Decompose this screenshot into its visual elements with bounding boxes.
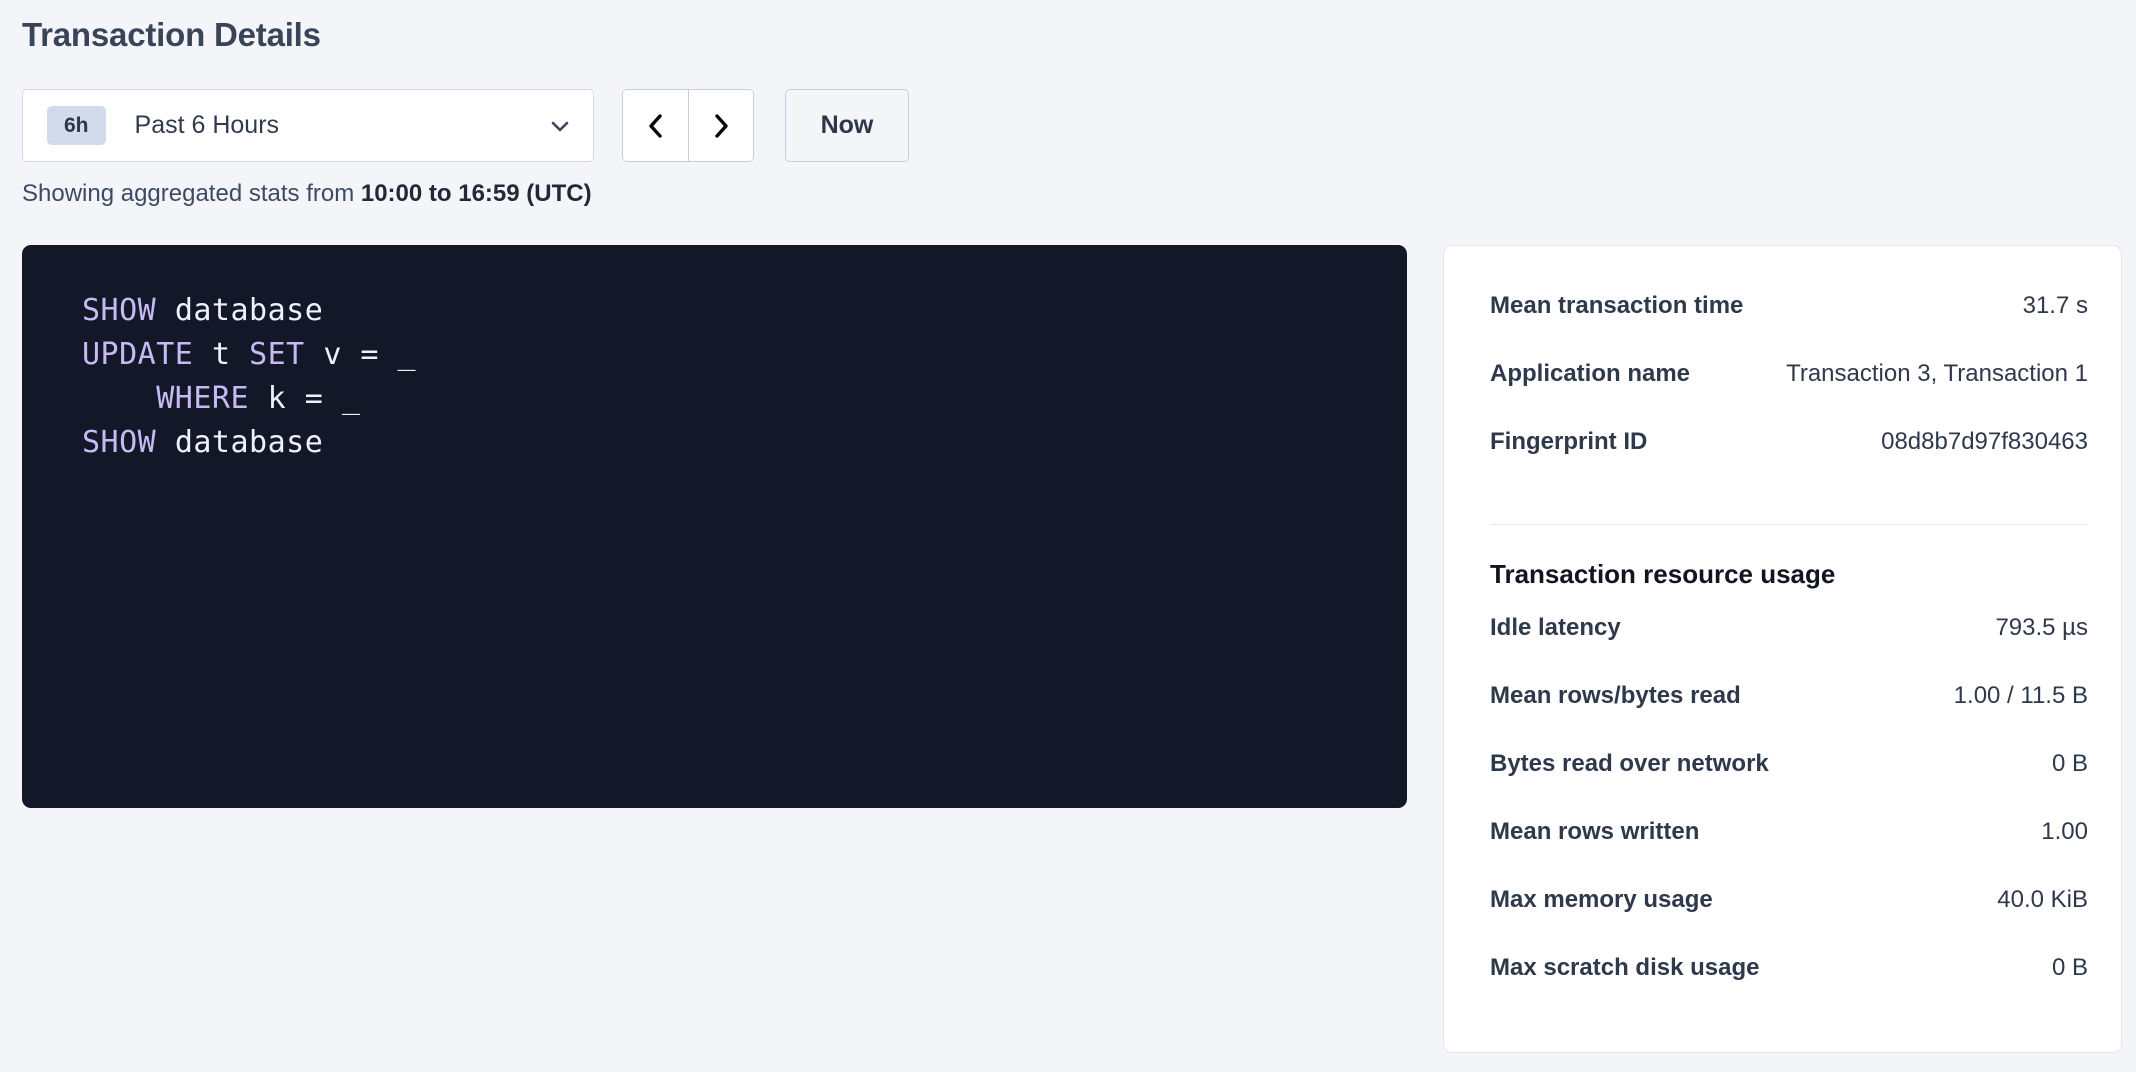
stat-label: Fingerprint ID: [1490, 428, 1647, 456]
next-arrow-icon: [708, 111, 734, 141]
sql-keyword: SHOW: [82, 293, 175, 328]
sql-identifier: database: [175, 425, 324, 460]
resource-stats-list: Idle latency793.5 µsMean rows/bytes read…: [1490, 614, 2088, 1022]
sql-identifier: k = _: [268, 381, 361, 416]
section-divider: [1490, 524, 2088, 525]
time-range-label: Past 6 Hours: [135, 111, 549, 140]
previous-period-button[interactable]: [623, 90, 688, 161]
stat-value: 1.00: [2041, 818, 2088, 846]
transaction-details-page: Transaction Details 6h Past 6 Hours: [0, 0, 2136, 1072]
stat-value: 31.7 s: [2023, 292, 2088, 320]
sql-code-panel: SHOW databaseUPDATE t SET v = _ WHERE k …: [22, 245, 1407, 808]
stat-row: Idle latency793.5 µs: [1490, 614, 2088, 682]
sql-identifier: t: [212, 337, 249, 372]
resource-usage-heading: Transaction resource usage: [1490, 559, 2088, 590]
stat-row: Mean rows/bytes read1.00 / 11.5 B: [1490, 682, 2088, 750]
sql-keyword: SHOW: [82, 425, 175, 460]
toolbar: 6h Past 6 Hours: [22, 89, 909, 162]
stat-value: 0 B: [2052, 954, 2088, 982]
sql-code-line: SHOW database: [82, 289, 1407, 333]
stat-label: Max memory usage: [1490, 886, 1713, 914]
time-nav-group: [622, 89, 754, 162]
sql-code-line: WHERE k = _: [82, 377, 1407, 421]
sql-identifier: v = _: [323, 337, 416, 372]
next-period-button[interactable]: [688, 90, 753, 161]
chevron-down-icon: [549, 115, 571, 137]
stat-row: Application nameTransaction 3, Transacti…: [1490, 360, 2088, 428]
sql-keyword: UPDATE: [82, 337, 212, 372]
stat-row: Mean rows written1.00: [1490, 818, 2088, 886]
sql-code-block: SHOW databaseUPDATE t SET v = _ WHERE k …: [22, 289, 1407, 465]
stat-row: Mean transaction time31.7 s: [1490, 292, 2088, 360]
sql-keyword: WHERE: [156, 381, 267, 416]
sql-keyword: SET: [249, 337, 323, 372]
now-button[interactable]: Now: [785, 89, 909, 162]
stat-value: Transaction 3, Transaction 1: [1786, 360, 2088, 388]
transaction-stats-card: Mean transaction time31.7 sApplication n…: [1443, 245, 2122, 1053]
caption-range: 10:00 to 16:59 (UTC): [361, 180, 592, 207]
stat-value: 08d8b7d97f830463: [1881, 428, 2088, 456]
sql-code-line: SHOW database: [82, 421, 1407, 465]
stat-row: Max scratch disk usage0 B: [1490, 954, 2088, 1022]
stat-label: Mean transaction time: [1490, 292, 1743, 320]
stat-row: Bytes read over network0 B: [1490, 750, 2088, 818]
previous-arrow-icon: [643, 111, 669, 141]
summary-stats-list: Mean transaction time31.7 sApplication n…: [1490, 292, 2088, 496]
sql-identifier: database: [175, 293, 324, 328]
time-range-badge: 6h: [47, 106, 106, 145]
sql-identifier: [82, 381, 156, 416]
stat-label: Idle latency: [1490, 614, 1621, 642]
stat-label: Mean rows/bytes read: [1490, 682, 1741, 710]
time-range-selector[interactable]: 6h Past 6 Hours: [22, 89, 594, 162]
stat-label: Application name: [1490, 360, 1690, 388]
page-title: Transaction Details: [22, 16, 321, 54]
stat-value: 0 B: [2052, 750, 2088, 778]
stat-value: 1.00 / 11.5 B: [1954, 682, 2088, 710]
caption-prefix: Showing aggregated stats from: [22, 180, 361, 207]
stat-label: Mean rows written: [1490, 818, 1699, 846]
stat-row: Fingerprint ID08d8b7d97f830463: [1490, 428, 2088, 496]
sql-code-line: UPDATE t SET v = _: [82, 333, 1407, 377]
stat-label: Bytes read over network: [1490, 750, 1769, 778]
aggregation-caption: Showing aggregated stats from 10:00 to 1…: [22, 180, 592, 208]
stat-row: Max memory usage40.0 KiB: [1490, 886, 2088, 954]
stat-value: 40.0 KiB: [1997, 886, 2088, 914]
stat-value: 793.5 µs: [1995, 614, 2088, 642]
stat-label: Max scratch disk usage: [1490, 954, 1759, 982]
